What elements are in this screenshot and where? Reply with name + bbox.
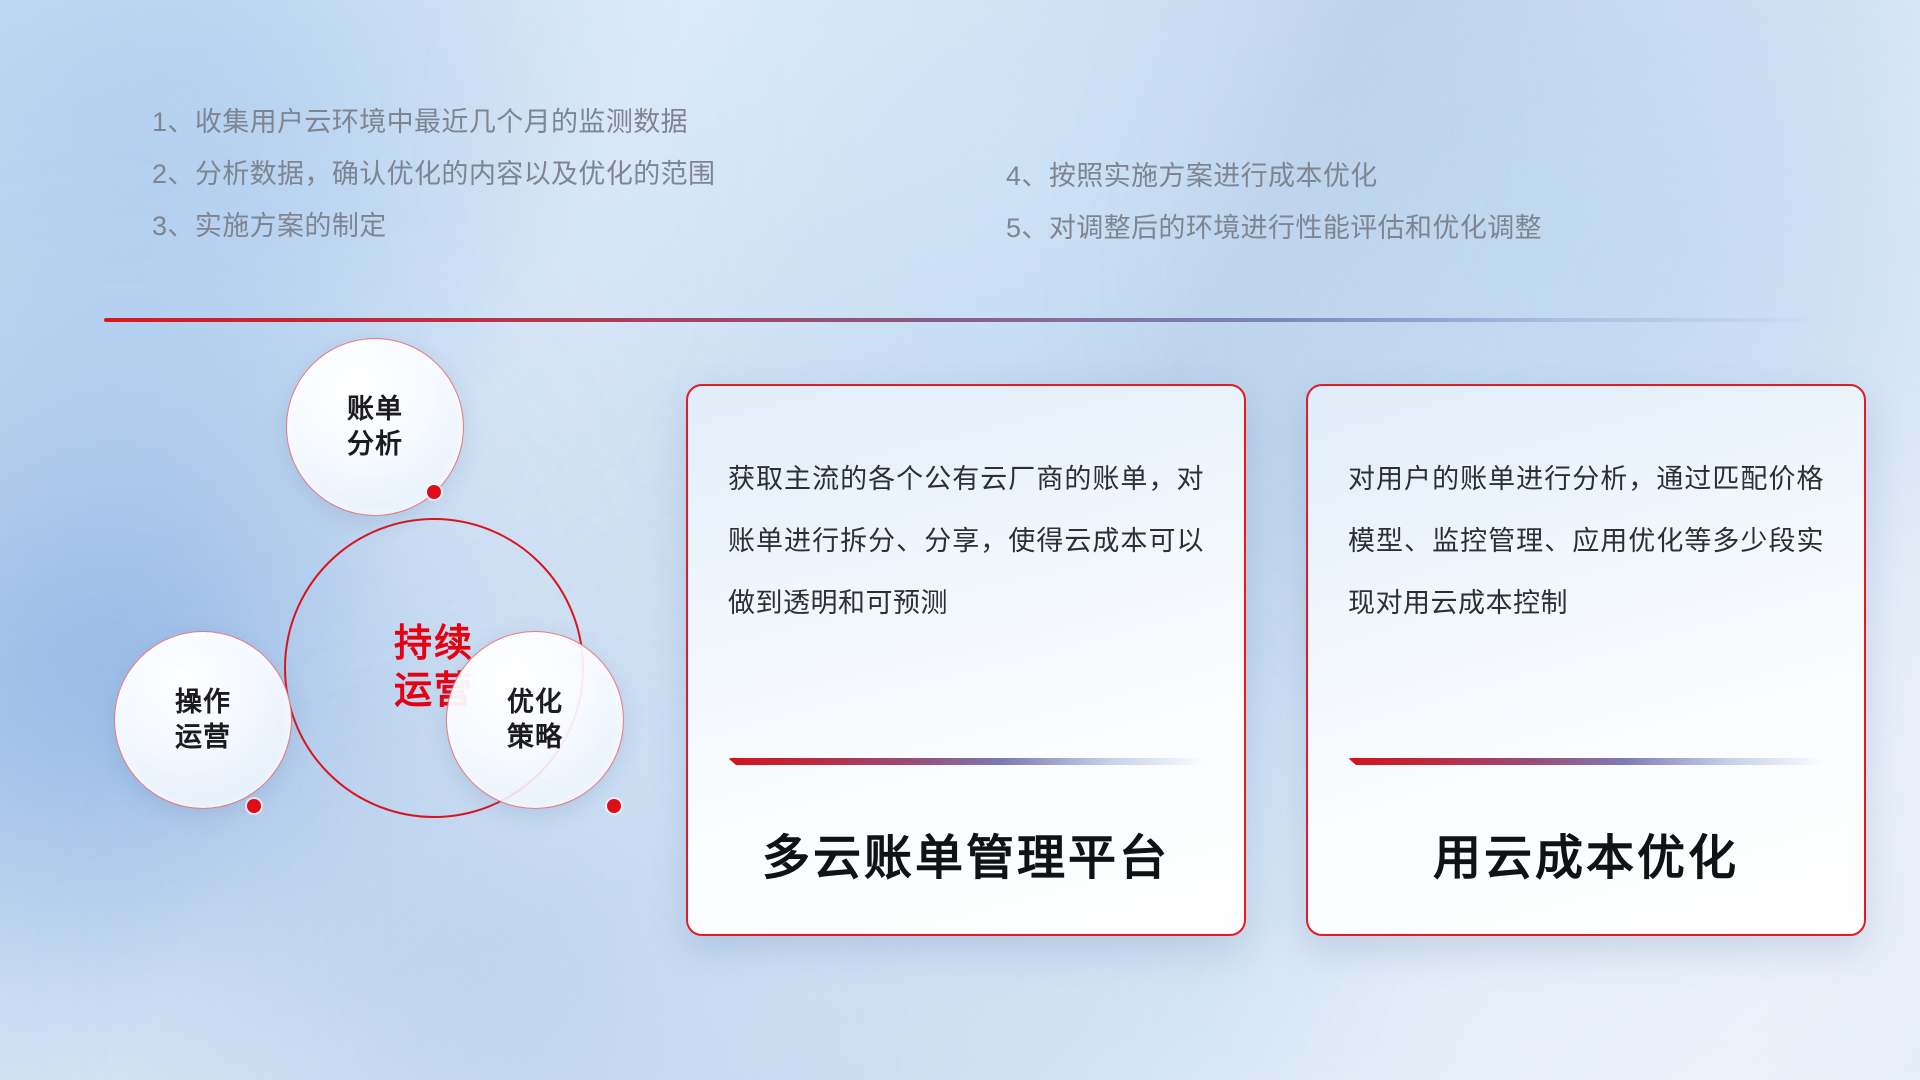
venn-bubble-top-line1: 账单 [347,392,403,427]
steps-right-column: 4、按照实施方案进行成本优化 5、对调整后的环境进行性能评估和优化调整 [1006,150,1542,254]
step-item-2: 2、分析数据，确认优化的内容以及优化的范围 [152,148,715,200]
venn-diagram: 持续 运营 账单 分析 操作 运营 优化 策略 [96,348,636,948]
card-2-body: 对用户的账单进行分析，通过匹配价格模型、监控管理、应用优化等多少段实现对用云成本… [1348,448,1824,634]
header-divider [104,318,1824,322]
step-item-4: 4、按照实施方案进行成本优化 [1006,150,1542,202]
venn-bubble-left-line2: 运营 [175,720,231,755]
venn-bubble-top-label: 账单 分析 [347,392,403,461]
venn-bubble-left-line1: 操作 [175,685,231,720]
venn-node-dot-top [427,485,441,499]
card-2-title: 用云成本优化 [1308,818,1864,888]
venn-bubble-right-label: 优化 策略 [507,685,563,754]
venn-bubble-left-label: 操作 运营 [175,685,231,754]
venn-bubble-optimization-strategy[interactable]: 优化 策略 [446,631,624,809]
step-item-3: 3、实施方案的制定 [152,200,715,252]
venn-node-dot-left [247,799,261,813]
venn-center-label-line1: 持续 [394,621,474,669]
card-2-divider [1348,758,1824,765]
venn-bubble-operations[interactable]: 操作 运营 [114,631,292,809]
card-1-title: 多云账单管理平台 [688,818,1244,888]
venn-bubble-right-line1: 优化 [507,685,563,720]
card-multi-cloud-billing-platform[interactable]: 获取主流的各个公有云厂商的账单，对账单进行拆分、分享，使得云成本可以做到透明和可… [686,384,1246,936]
venn-bubble-right-line2: 策略 [507,720,563,755]
step-item-5: 5、对调整后的环境进行性能评估和优化调整 [1006,202,1542,254]
steps-left-column: 1、收集用户云环境中最近几个月的监测数据 2、分析数据，确认优化的内容以及优化的… [152,96,715,252]
card-1-divider [728,758,1204,765]
venn-node-dot-right [607,799,621,813]
card-1-body: 获取主流的各个公有云厂商的账单，对账单进行拆分、分享，使得云成本可以做到透明和可… [728,448,1204,634]
venn-bubble-top-line2: 分析 [347,427,403,462]
step-item-1: 1、收集用户云环境中最近几个月的监测数据 [152,96,715,148]
card-cloud-cost-optimization[interactable]: 对用户的账单进行分析，通过匹配价格模型、监控管理、应用优化等多少段实现对用云成本… [1306,384,1866,936]
